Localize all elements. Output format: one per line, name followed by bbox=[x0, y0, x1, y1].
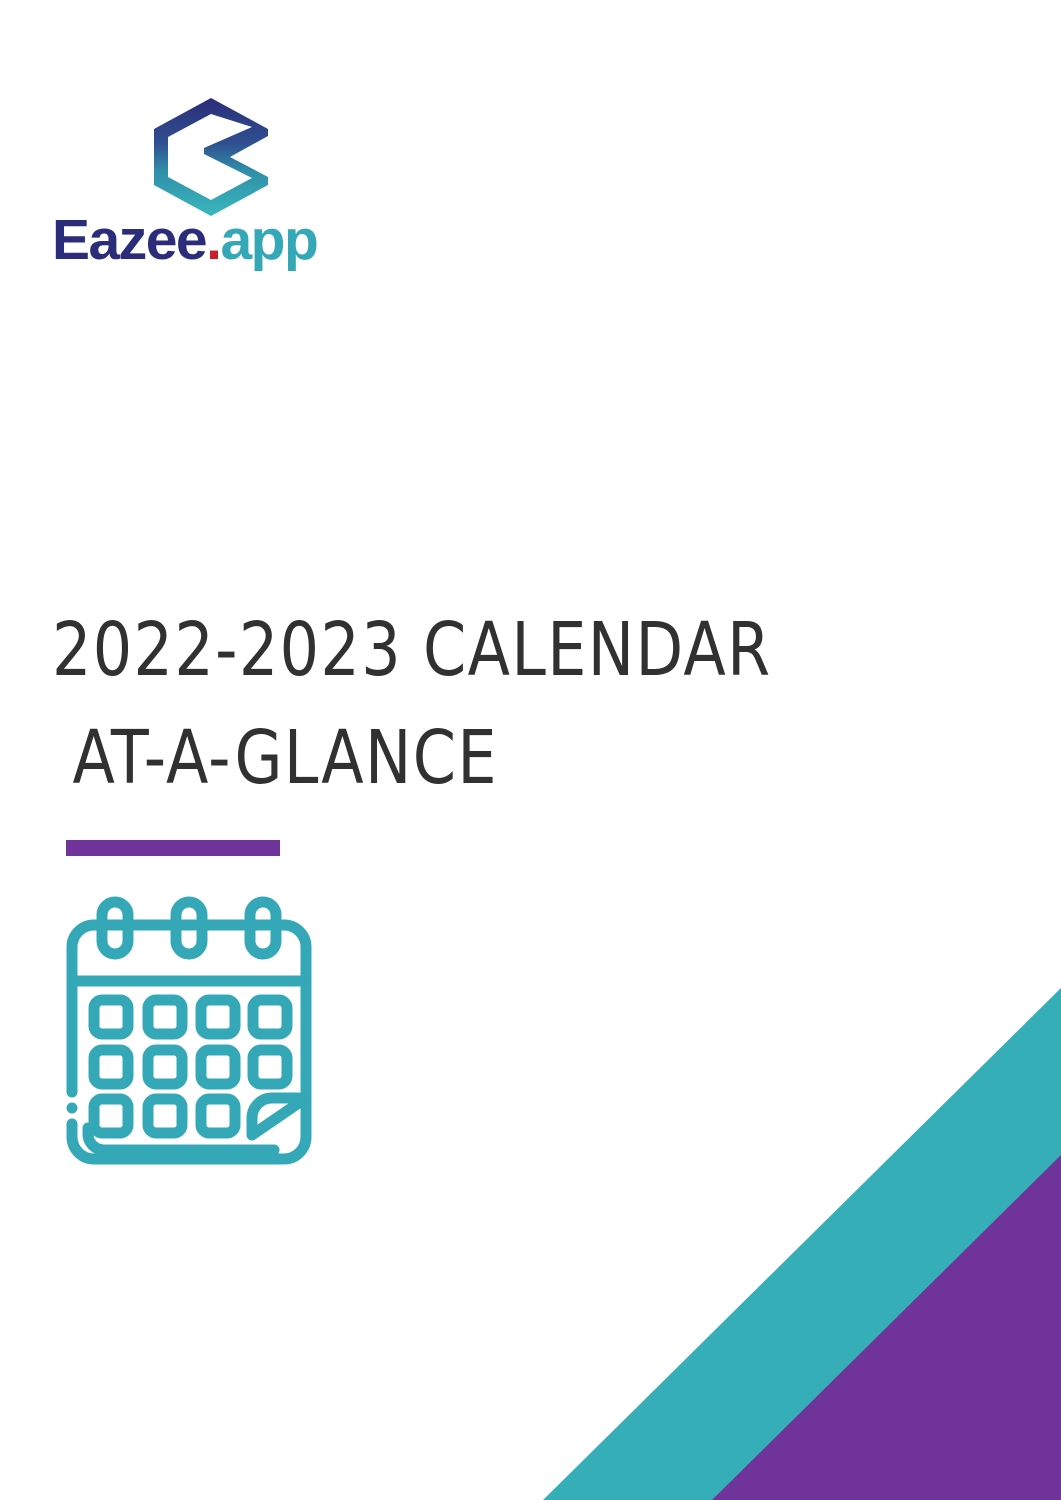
logo-wordmark-dot: . bbox=[206, 208, 220, 272]
logo-wordmark-secondary: app bbox=[220, 208, 317, 272]
cover-page: Eazee.app 2022-2023 CALENDAR AT-A-GLANCE bbox=[0, 0, 1061, 1500]
logo-wordmark-primary: Eazee bbox=[52, 208, 206, 272]
title-divider-rule bbox=[66, 840, 280, 856]
page-title-line-1: 2022-2023 CALENDAR bbox=[52, 596, 852, 704]
page-title: 2022-2023 CALENDAR AT-A-GLANCE bbox=[52, 596, 912, 812]
teal-diagonal-band bbox=[543, 988, 1061, 1500]
eazee-hexagon-mark-icon bbox=[152, 96, 270, 218]
logo-wordmark: Eazee.app bbox=[52, 208, 372, 272]
purple-diagonal-triangle bbox=[712, 1155, 1061, 1500]
page-title-line-2: AT-A-GLANCE bbox=[52, 704, 852, 812]
calendar-icon bbox=[58, 896, 320, 1182]
brand-logo: Eazee.app bbox=[52, 96, 372, 286]
